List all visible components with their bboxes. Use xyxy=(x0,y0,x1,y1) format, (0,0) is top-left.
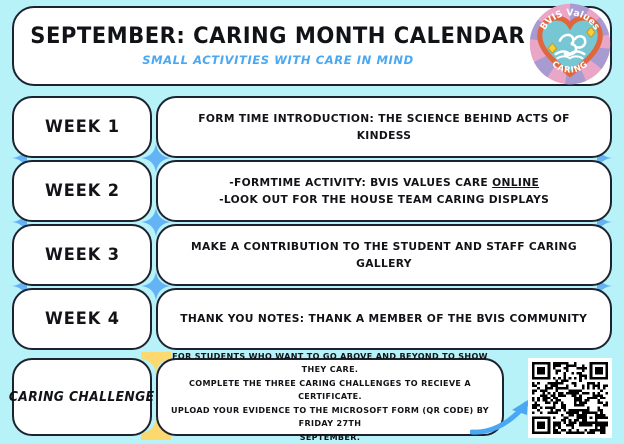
row-content-week-1: FORM TIME INTRODUCTION: THE SCIENCE BEHI… xyxy=(156,96,612,158)
bvis-values-caring-badge: BVIS Values CARING xyxy=(528,2,612,86)
row-content-text: -FORMTIME ACTIVITY: BVIS VALUES CARE ONL… xyxy=(209,174,559,208)
content-line: FOR STUDENTS WHO WANT TO GO ABOVE AND BE… xyxy=(171,350,489,377)
row-content-text: MAKE A CONTRIBUTION TO THE STUDENT AND S… xyxy=(165,238,603,272)
microsoft-form-qr-code[interactable] xyxy=(528,358,612,438)
row-label-week-1: WEEK 1 xyxy=(12,96,152,158)
caring-month-poster: SEPTEMBER: CARING MONTH CALENDAR SMALL A… xyxy=(0,0,624,439)
row-label-text: WEEK 1 xyxy=(45,117,120,137)
row-label-text: WEEK 4 xyxy=(45,309,120,329)
row-label-caring-challenge: CARING CHALLENGE xyxy=(12,358,152,436)
row-content-week-3: MAKE A CONTRIBUTION TO THE STUDENT AND S… xyxy=(156,224,612,286)
row-label-week-2: WEEK 2 xyxy=(12,160,152,222)
content-line: -FORMTIME ACTIVITY: BVIS VALUES CARE ONL… xyxy=(219,174,549,191)
row-content-caring-challenge: FOR STUDENTS WHO WANT TO GO ABOVE AND BE… xyxy=(156,358,504,436)
row-content-week-4: THANK YOU NOTES: THANK A MEMBER OF THE B… xyxy=(156,288,612,350)
page-subtitle: SMALL ACTIVITIES WITH CARE IN MIND xyxy=(142,53,414,67)
content-line-text: -FORMTIME ACTIVITY: BVIS VALUES CARE xyxy=(229,176,492,189)
row-label-week-4: WEEK 4 xyxy=(12,288,152,350)
page-title: SEPTEMBER: CARING MONTH CALENDAR xyxy=(31,25,526,48)
content-line: MAKE A CONTRIBUTION TO THE STUDENT AND S… xyxy=(174,238,593,272)
row-content-text: FORM TIME INTRODUCTION: THE SCIENCE BEHI… xyxy=(165,110,603,144)
online-link[interactable]: ONLINE xyxy=(492,176,539,189)
content-line: THANK YOU NOTES: THANK A MEMBER OF THE B… xyxy=(181,310,588,327)
content-line: COMPLETE THE THREE CARING CHALLENGES TO … xyxy=(171,377,489,404)
row-content-text: FOR STUDENTS WHO WANT TO GO ABOVE AND BE… xyxy=(163,350,497,444)
content-line: UPLOAD YOUR EVIDENCE TO THE MICROSOFT FO… xyxy=(171,404,489,431)
row-content-week-2: -FORMTIME ACTIVITY: BVIS VALUES CARE ONL… xyxy=(156,160,612,222)
content-line: -LOOK OUT FOR THE HOUSE TEAM CARING DISP… xyxy=(219,191,549,208)
content-line: SEPTEMBER. xyxy=(171,431,489,444)
content-line: FORM TIME INTRODUCTION: THE SCIENCE BEHI… xyxy=(174,110,593,144)
row-label-week-3: WEEK 3 xyxy=(12,224,152,286)
row-label-text: WEEK 3 xyxy=(45,245,120,265)
row-label-text: WEEK 2 xyxy=(45,181,120,201)
poster-header: SEPTEMBER: CARING MONTH CALENDAR SMALL A… xyxy=(12,6,612,86)
row-content-text: THANK YOU NOTES: THANK A MEMBER OF THE B… xyxy=(171,310,597,327)
row-label-text: CARING CHALLENGE xyxy=(9,390,155,405)
